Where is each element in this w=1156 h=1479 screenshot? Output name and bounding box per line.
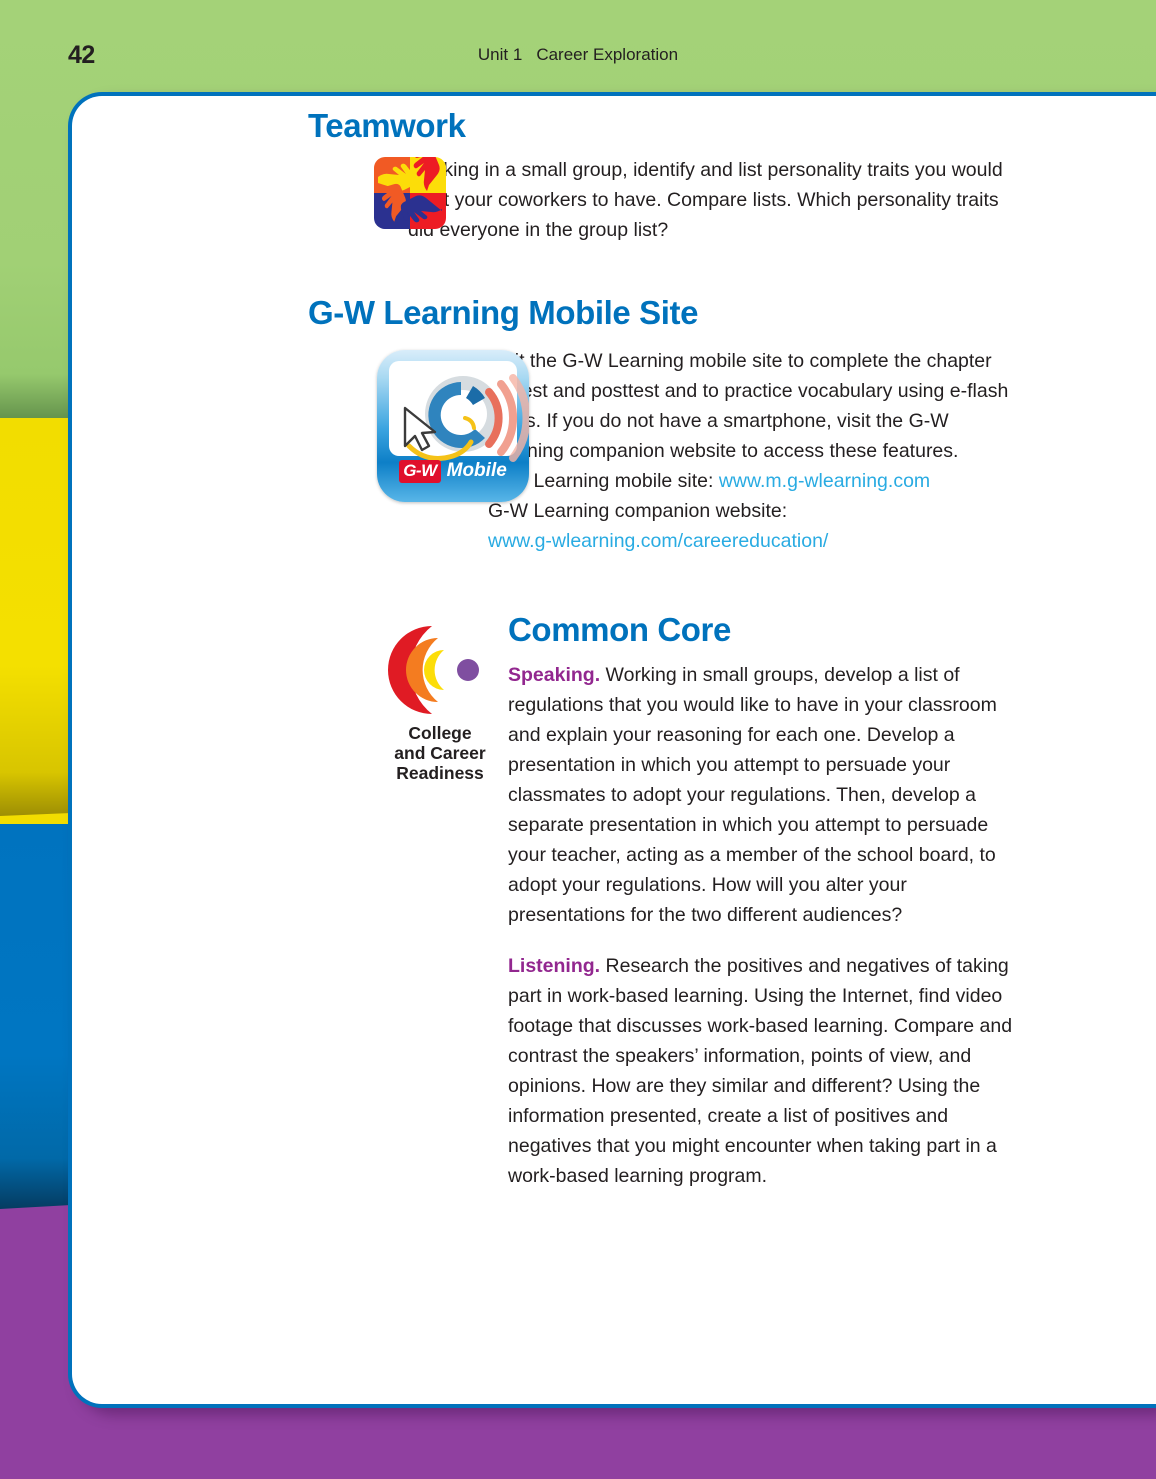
teamwork-hands-glyphs xyxy=(374,157,446,229)
teamwork-body: Working in a small group, identify and l… xyxy=(408,155,1028,245)
ccr-caption-line-2: and Career xyxy=(386,743,494,763)
four-hands-teamwork-icon xyxy=(374,157,446,229)
companion-site-url-line: www.g-wlearning.com/careereducation/ xyxy=(488,526,1028,556)
common-core-item-speaking-text: Working in small groups, develop a list … xyxy=(508,664,997,926)
mobile-site-url-link[interactable]: www.m.g-wlearning.com xyxy=(719,470,930,492)
mobile-site-body: Visit the G-W Learning mobile site to co… xyxy=(488,346,1028,466)
running-head-unit: Unit 1 xyxy=(478,45,522,64)
teamwork-section: Teamwork xyxy=(308,108,1028,245)
content-panel: Teamwork xyxy=(68,92,1156,1408)
common-core-item-listening: Listening. Research the positives and ne… xyxy=(508,951,1028,1191)
mobile-site-section: G-W Learning Mobile Site xyxy=(308,295,1028,555)
common-core-item-speaking: Speaking. Working in small groups, devel… xyxy=(508,660,1028,930)
companion-site-url-link[interactable]: www.g-wlearning.com/careereducation/ xyxy=(488,530,828,552)
gw-mobile-icon-label-word: Mobile xyxy=(447,460,507,482)
content-column: Teamwork xyxy=(308,108,1028,1191)
college-and-career-readiness-icon: College and Career Readiness xyxy=(386,622,494,783)
running-head: Unit 1Career Exploration xyxy=(0,45,1156,65)
companion-site-label-line: G-W Learning companion website: xyxy=(488,496,1028,526)
ccr-caption-line-3: Readiness xyxy=(386,763,494,783)
common-core-heading: Common Core xyxy=(508,612,1028,648)
gw-mobile-icon-label-mark: G-W xyxy=(399,460,440,483)
teamwork-heading: Teamwork xyxy=(308,108,1028,144)
mobile-site-row: G-WMobile Visit the G-W Learning mobile … xyxy=(308,346,1028,556)
common-core-item-listening-text: Research the positives and negatives of … xyxy=(508,955,1012,1187)
textbook-page: 42 Unit 1Career Exploration Teamwork xyxy=(0,0,1156,1479)
teamwork-row: Working in a small group, identify and l… xyxy=(308,155,1028,245)
mobile-site-heading: G-W Learning Mobile Site xyxy=(308,295,1028,331)
page-header: 42 Unit 1Career Exploration xyxy=(0,41,1156,75)
ccr-caption-line-1: College xyxy=(386,723,494,743)
ccr-icon-caption: College and Career Readiness xyxy=(386,723,494,783)
common-core-item-listening-label: Listening. xyxy=(508,955,600,977)
running-head-title: Career Exploration xyxy=(536,45,678,64)
gw-mobile-app-icon: G-WMobile xyxy=(377,350,529,502)
mobile-site-url-line: G-W Learning mobile site: www.m.g-wlearn… xyxy=(488,466,1028,496)
ccr-arcs-icon xyxy=(386,622,494,718)
common-core-item-speaking-label: Speaking. xyxy=(508,664,600,686)
gw-mobile-icon-label: G-WMobile xyxy=(377,460,529,483)
common-core-section: College and Career Readiness Common Core… xyxy=(308,612,1028,1191)
